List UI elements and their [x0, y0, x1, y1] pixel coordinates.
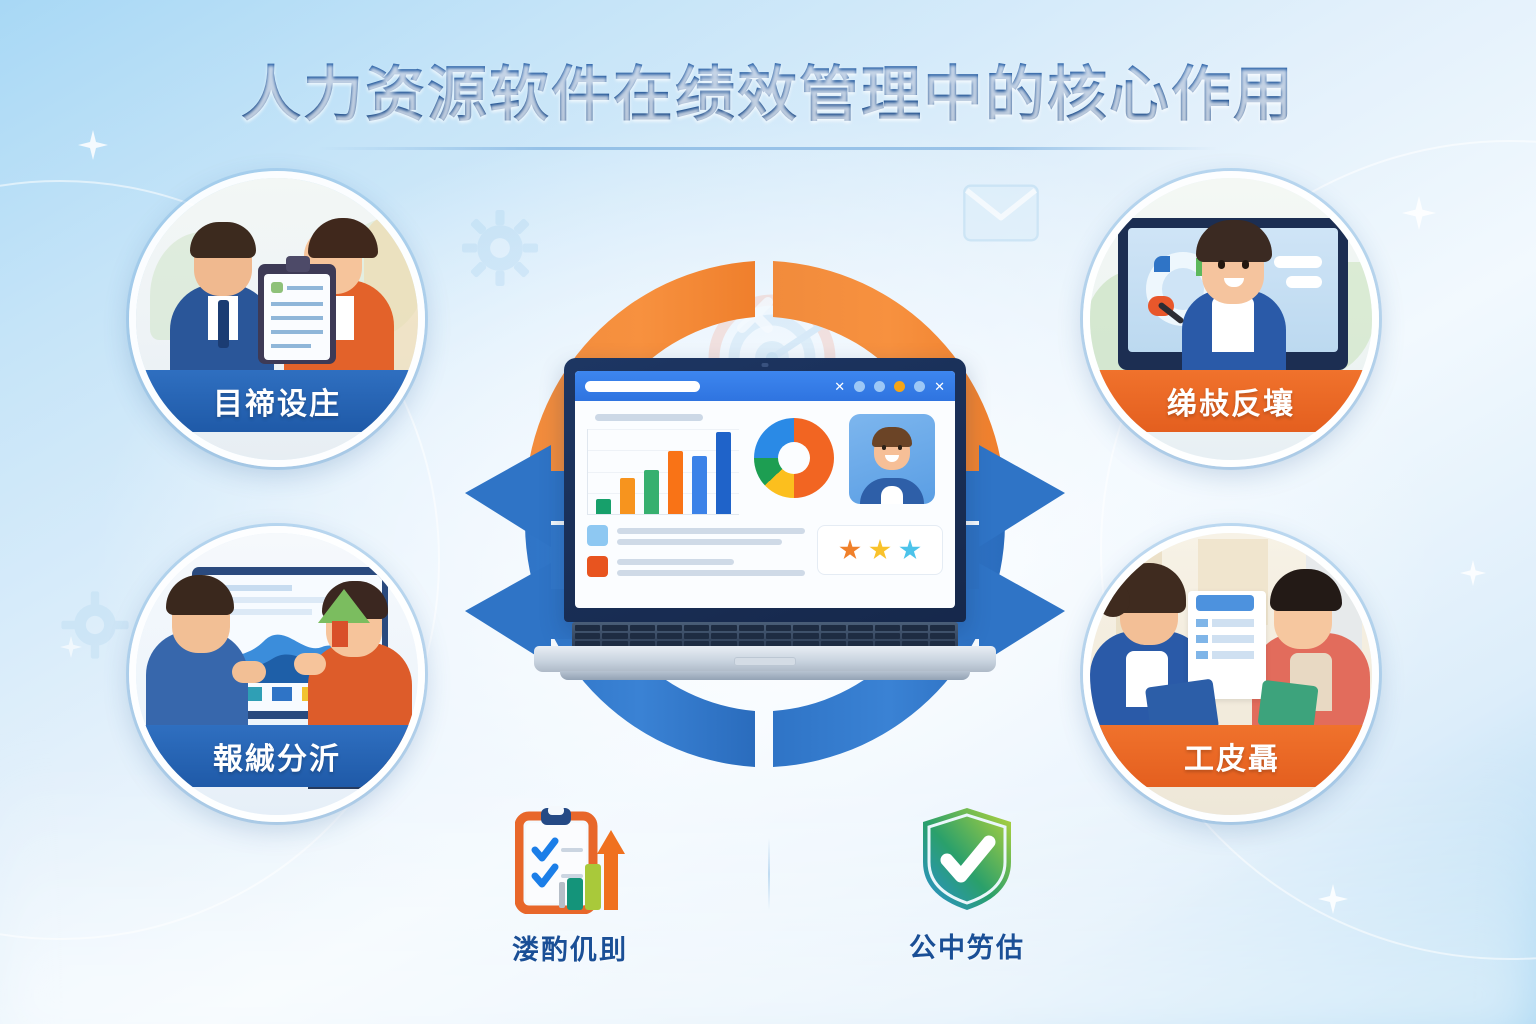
badge-label: 報絾分沂 [213, 734, 341, 778]
key [848, 625, 873, 631]
badge-ribbon: 绨敊反壤 [1090, 370, 1372, 432]
badge-ribbon: 目禘设庄 [136, 370, 418, 432]
key [657, 625, 682, 631]
key [848, 633, 873, 639]
key [793, 625, 818, 631]
trackpad [734, 657, 796, 666]
bar-5 [692, 456, 707, 514]
page-title-block: 人力资源软件在绩效管理中的核心作用 [0, 46, 1536, 150]
bar-chart-widget [587, 414, 739, 515]
badge-ribbon: ఩工皮聶 [1090, 725, 1372, 787]
key [711, 633, 736, 639]
badge-label: 绨敊反壤 [1167, 379, 1295, 423]
laptop-foot [560, 671, 970, 680]
laptop-lid: ✕ ✕ [564, 358, 966, 622]
key [684, 633, 709, 639]
bar-3 [644, 470, 659, 514]
badge-performance-feedback[interactable]: 绨敊反壤 [1083, 171, 1379, 467]
feature-fair-evaluation[interactable]: 公中竻估 [852, 806, 1082, 965]
page-title: 人力资源软件在绩效管理中的核心作用 [241, 46, 1295, 133]
gear-icon [60, 590, 130, 660]
badge-label: ఩工皮聶 [1182, 734, 1280, 778]
bar-6 [716, 432, 731, 514]
list-item[interactable] [587, 556, 805, 577]
key [766, 625, 791, 631]
bar-1 [596, 499, 611, 514]
key [766, 633, 791, 639]
browser-toolbar[interactable]: ✕ ✕ [575, 371, 955, 401]
key [711, 625, 736, 631]
list-panel [587, 525, 805, 577]
bar-2 [620, 478, 635, 514]
list-swatch-icon [587, 556, 608, 577]
dashboard-bottom-row [587, 525, 943, 598]
key [602, 625, 627, 631]
list-item[interactable] [587, 525, 805, 546]
key [930, 625, 955, 631]
star-icon [899, 539, 921, 561]
dashboard-top-row [587, 414, 943, 515]
key [575, 625, 600, 631]
rating-card [817, 525, 943, 575]
star-icon [869, 539, 891, 561]
address-bar[interactable] [585, 381, 700, 392]
title-underline [318, 147, 1218, 150]
bar-4 [668, 451, 683, 514]
key [875, 625, 900, 631]
key [657, 633, 682, 639]
feature-divider [768, 838, 770, 910]
key [630, 625, 655, 631]
key [902, 633, 927, 639]
badge-employee-development[interactable]: ఩工皮聶 [1083, 526, 1379, 822]
avatar [849, 414, 935, 504]
key [821, 625, 846, 631]
key [602, 633, 627, 639]
feature-incentive-mechanism[interactable]: 溇酌仉刞 [455, 806, 685, 967]
chart-title-placeholder [595, 414, 703, 421]
feature-label: 公中竻估 [852, 926, 1082, 965]
status-dot-active-icon[interactable] [894, 381, 905, 392]
key [575, 633, 600, 639]
status-dot-icon[interactable] [854, 381, 865, 392]
shield-check-icon [919, 806, 1015, 912]
donut-chart-widget [751, 414, 837, 498]
key [821, 633, 846, 639]
key [902, 625, 927, 631]
dashboard-screen: ✕ ✕ [575, 371, 955, 608]
star-icon [839, 539, 861, 561]
laptop-base [534, 620, 996, 680]
status-dot-icon[interactable] [914, 381, 925, 392]
key [739, 625, 764, 631]
badge-goal-setting[interactable]: 目禘设庄 [129, 171, 425, 467]
webcam-icon [762, 363, 769, 367]
key [684, 625, 709, 631]
key [739, 633, 764, 639]
key [630, 633, 655, 639]
status-dot-icon[interactable] [874, 381, 885, 392]
badge-data-analysis[interactable]: 報絾分沂 [129, 526, 425, 822]
close-icon[interactable]: ✕ [934, 380, 945, 393]
infographic-canvas: 人力资源软件在绩效管理中的核心作用 [0, 0, 1536, 1024]
key [793, 633, 818, 639]
feature-label: 溇酌仉刞 [455, 928, 685, 967]
bar-series [588, 429, 739, 514]
dashboard-body [575, 401, 955, 608]
clipboard-chart-arrow-icon [515, 806, 625, 914]
donut-chart [754, 418, 834, 498]
badge-ribbon: 報絾分沂 [136, 725, 418, 787]
key [930, 633, 955, 639]
toolbar-icons: ✕ ✕ [834, 380, 945, 393]
bar-chart-plot [587, 429, 739, 515]
list-swatch-icon [587, 525, 608, 546]
badge-label: 目禘设庄 [213, 379, 341, 423]
laptop-mockup: ✕ ✕ [534, 358, 996, 680]
key [875, 633, 900, 639]
close-icon[interactable]: ✕ [834, 380, 845, 393]
